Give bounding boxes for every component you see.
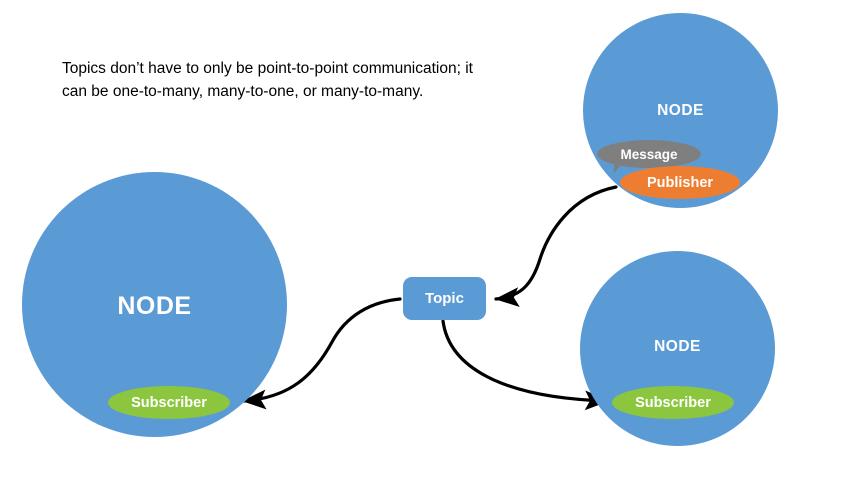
arrow-publisher-to-topic xyxy=(496,187,616,299)
node-label: NODE xyxy=(583,102,778,120)
node-label: NODE xyxy=(580,338,775,356)
node-label: NODE xyxy=(22,292,287,321)
subscriber-pill-right[interactable]: Subscriber xyxy=(612,386,734,419)
message-pill[interactable]: Message xyxy=(597,140,701,168)
topic-label: Topic xyxy=(425,290,464,307)
diagram-canvas: Topics don’t have to only be point-to-po… xyxy=(0,0,854,480)
caption-text: Topics don’t have to only be point-to-po… xyxy=(62,58,482,104)
publisher-pill[interactable]: Publisher xyxy=(620,166,740,199)
message-label: Message xyxy=(620,147,677,162)
topic-box[interactable]: Topic xyxy=(403,277,486,320)
subscriber-label: Subscriber xyxy=(635,395,711,411)
subscriber-label: Subscriber xyxy=(131,395,207,411)
publisher-label: Publisher xyxy=(647,175,713,191)
subscriber-pill-left[interactable]: Subscriber xyxy=(108,386,230,419)
